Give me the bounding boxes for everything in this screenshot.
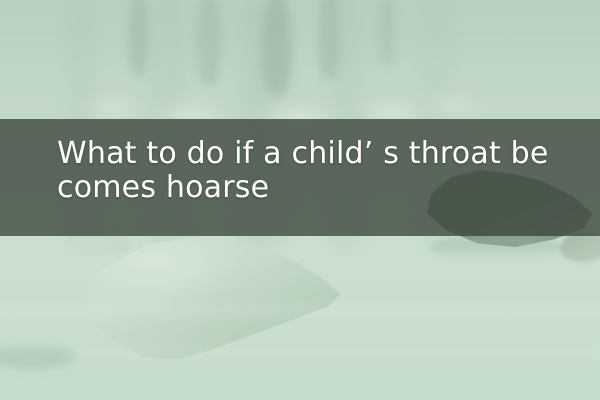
far-right-rock	[560, 232, 600, 262]
page-title: What to do if a child’ s throat becomes …	[57, 137, 562, 205]
water-ripples	[0, 300, 600, 400]
right-rock-waterline	[430, 236, 562, 262]
hero-image: What to do if a child’ s throat becomes …	[0, 0, 600, 400]
title-banner: What to do if a child’ s throat becomes …	[0, 119, 600, 236]
